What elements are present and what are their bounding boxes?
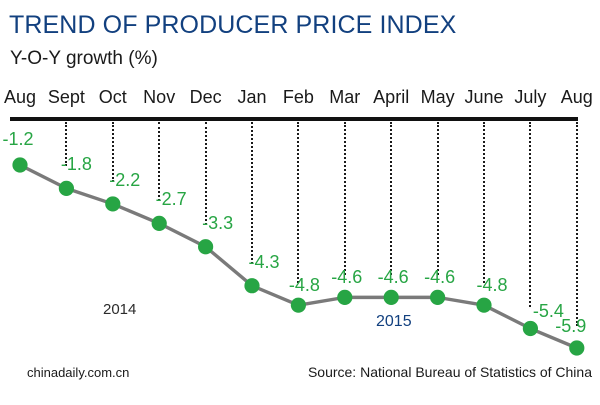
data-point-marker — [244, 278, 259, 293]
data-value-label-11: -5.4 — [533, 301, 564, 321]
data-value-label-8: -4.6 — [378, 267, 409, 287]
gridline-5 — [251, 122, 253, 264]
gridline-6 — [297, 122, 299, 283]
gridline-8 — [390, 122, 392, 275]
data-point-marker — [569, 340, 584, 355]
x-tick-label-7: Mar — [329, 86, 360, 108]
footer-brand: chinadaily.com.cn — [27, 365, 129, 381]
data-point-marker — [476, 298, 491, 313]
x-tick-label-6: Feb — [283, 86, 314, 108]
data-value-label-10: -4.8 — [476, 275, 507, 295]
series-line — [20, 165, 577, 348]
x-axis-tick-labels: AugSeptOctNovDecJanFebMarAprilMayJuneJul… — [0, 86, 600, 112]
data-point-marker — [523, 321, 538, 336]
x-tick-label-10: June — [464, 86, 503, 108]
data-value-label-12: -5.9 — [555, 316, 586, 336]
infographic-chart: TREND OF PRODUCER PRICE INDEX Y-O-Y grow… — [0, 0, 600, 400]
gridline-7 — [344, 122, 346, 275]
data-value-label-1: -1.8 — [61, 154, 92, 174]
x-tick-label-3: Nov — [143, 86, 175, 108]
data-value-label-7: -4.6 — [331, 267, 362, 287]
annotation-year-2014: 2014 — [103, 301, 136, 319]
data-point-marker — [105, 196, 120, 211]
gridline-9 — [437, 122, 439, 275]
data-value-label-9: -4.6 — [424, 267, 455, 287]
data-value-label-3: -2.7 — [156, 189, 187, 209]
x-tick-label-1: Sept — [48, 86, 85, 108]
gridline-1 — [65, 122, 67, 166]
data-point-marker — [384, 290, 399, 305]
data-point-marker — [152, 216, 167, 231]
data-value-label-0: -1.2 — [2, 129, 33, 149]
x-tick-label-8: April — [373, 86, 409, 108]
gridline-10 — [483, 122, 485, 283]
data-point-marker — [198, 239, 213, 254]
data-value-label-2: -2.2 — [109, 170, 140, 190]
x-tick-label-2: Oct — [99, 86, 127, 108]
annotation-year-2015: 2015 — [376, 312, 412, 331]
data-point-marker — [291, 298, 306, 313]
page-title: TREND OF PRODUCER PRICE INDEX — [9, 10, 456, 40]
chart-subtitle: Y-O-Y growth (%) — [10, 47, 158, 71]
gridline-2 — [112, 122, 114, 182]
x-tick-label-0: Aug — [4, 86, 36, 108]
gridline-4 — [205, 122, 207, 225]
footer-source: Source: National Bureau of Statistics of… — [308, 364, 592, 381]
data-value-label-5: -4.3 — [248, 252, 279, 272]
data-point-marker — [430, 290, 445, 305]
x-axis-rule — [10, 117, 578, 121]
gridline-3 — [158, 122, 160, 201]
x-tick-label-11: July — [514, 86, 546, 108]
x-tick-label-12: Aug — [561, 86, 593, 108]
x-tick-label-4: Dec — [190, 86, 222, 108]
data-point-marker — [59, 181, 74, 196]
data-point-marker — [337, 290, 352, 305]
x-tick-label-5: Jan — [237, 86, 266, 108]
gridline-12 — [576, 122, 578, 326]
data-point-marker — [12, 157, 27, 172]
x-tick-label-9: May — [421, 86, 455, 108]
data-value-label-4: -3.3 — [202, 213, 233, 233]
data-value-label-6: -4.8 — [289, 275, 320, 295]
gridline-11 — [529, 122, 531, 307]
